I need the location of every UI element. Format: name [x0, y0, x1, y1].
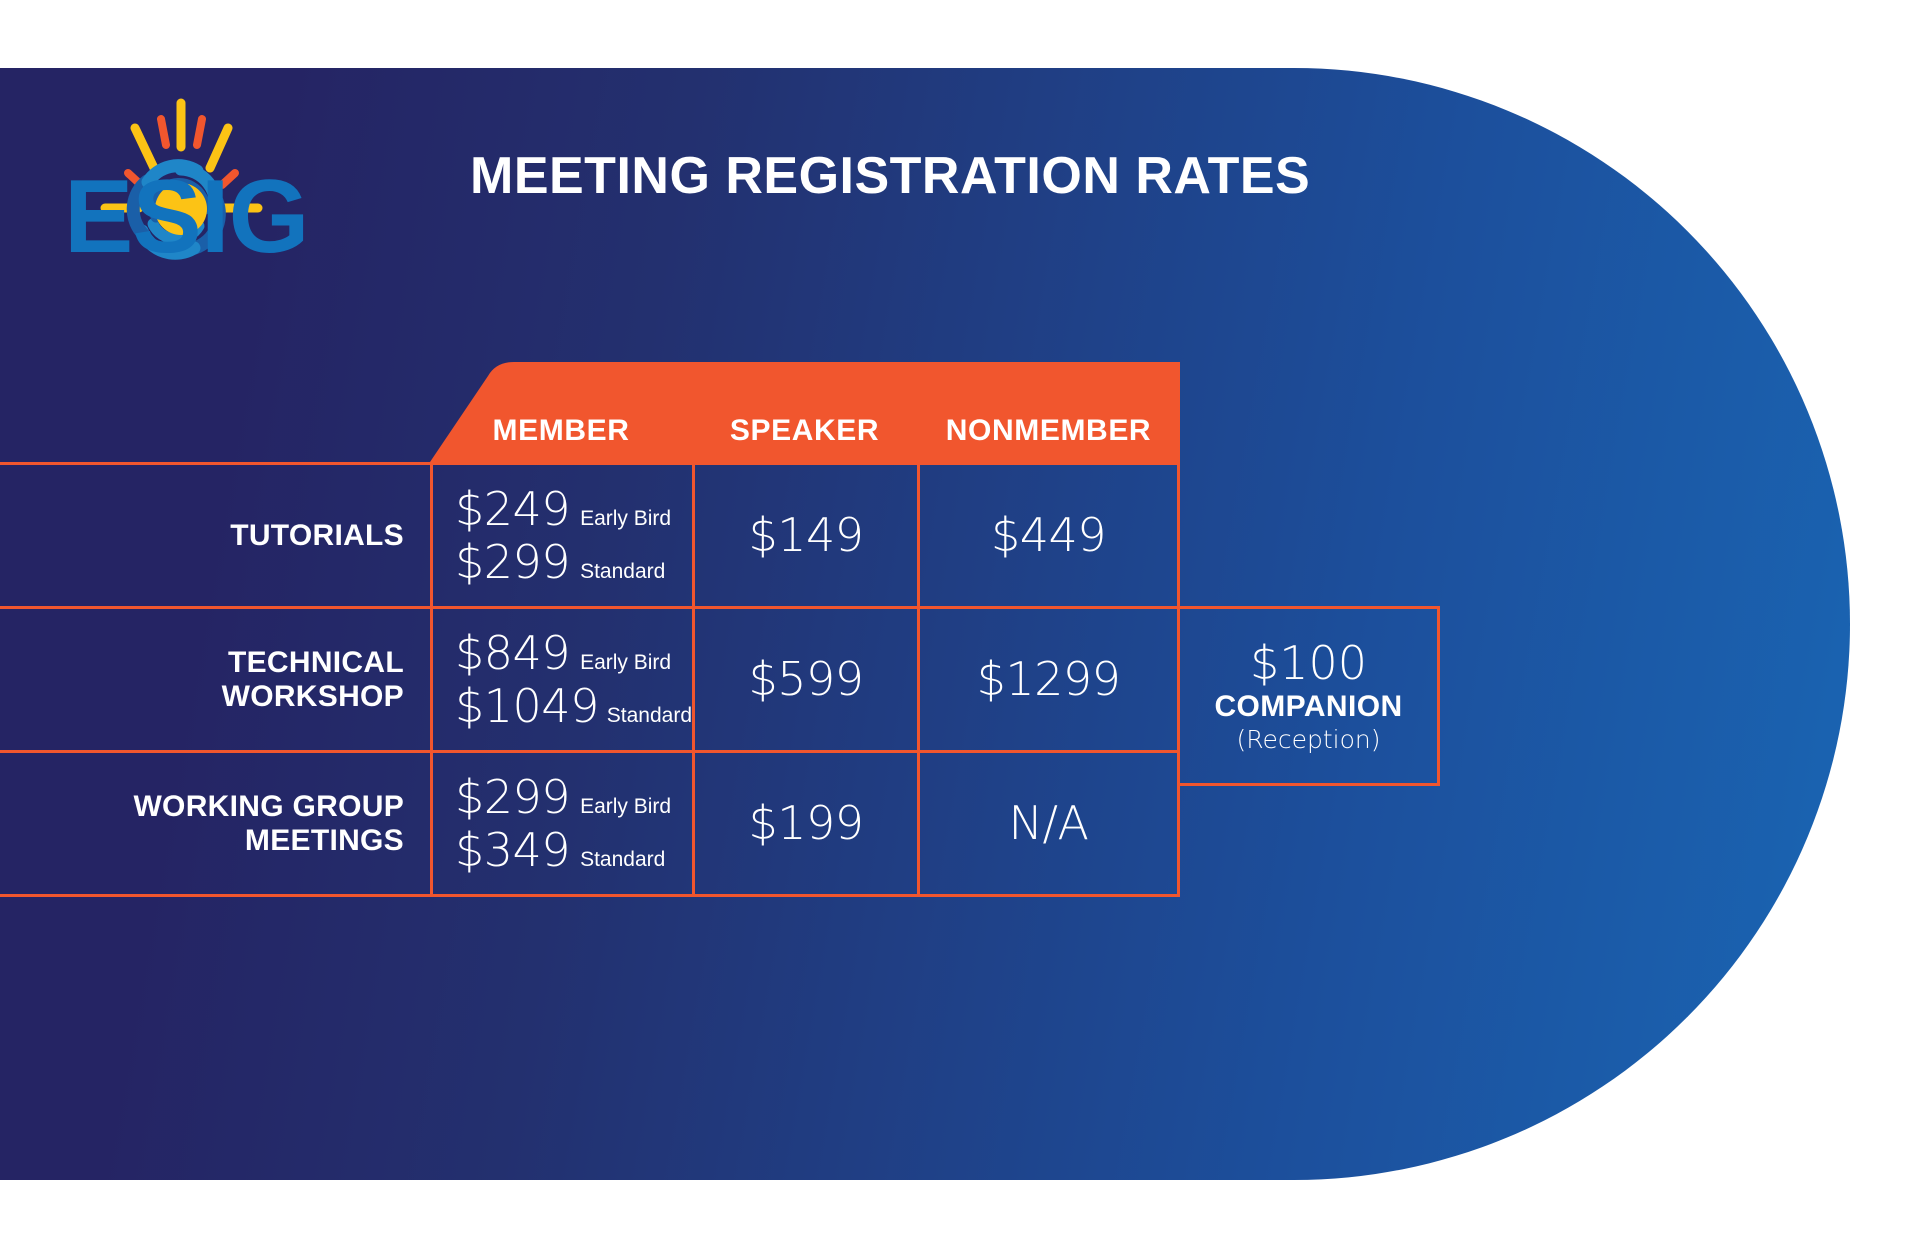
- table-row: TECHNICAL WORKSHOP $849 Early Bird $1049…: [0, 609, 1180, 753]
- row-label-line1: TECHNICAL: [222, 646, 404, 680]
- price-value: N/A: [1009, 799, 1089, 847]
- registration-rates-graphic: ESIG MEETING REGISTRATION RATES MEMBER S…: [0, 0, 1907, 1249]
- tier-label: Standard: [607, 704, 692, 728]
- row-label-line2: MEETINGS: [133, 824, 404, 858]
- row-label-working-group-meetings: WORKING GROUP MEETINGS: [0, 753, 430, 894]
- cell-working-group-speaker: $199: [692, 753, 917, 894]
- tier-label: Standard: [580, 560, 665, 584]
- table-header-bar: MEMBER SPEAKER NONMEMBER: [430, 362, 1180, 462]
- row-label-technical-workshop: TECHNICAL WORKSHOP: [0, 609, 430, 750]
- cell-working-group-nonmember: N/A: [917, 753, 1180, 894]
- column-header-nonmember: NONMEMBER: [917, 414, 1180, 462]
- row-label-line1: WORKING GROUP: [133, 790, 404, 824]
- companion-subtitle: (Reception): [1236, 725, 1380, 754]
- table-row: TUTORIALS $249 Early Bird $299 Standard …: [0, 465, 1180, 609]
- cell-technical-workshop-member: $849 Early Bird $1049 Standard: [430, 609, 692, 750]
- tier-label: Early Bird: [580, 651, 671, 675]
- rates-table: TUTORIALS $249 Early Bird $299 Standard …: [0, 462, 1180, 894]
- companion-title: COMPANION: [1214, 690, 1402, 724]
- price-value: $249: [455, 485, 570, 533]
- cell-technical-workshop-speaker: $599: [692, 609, 917, 750]
- row-label-line2: WORKSHOP: [222, 680, 404, 714]
- price-value: $149: [748, 511, 863, 559]
- price-value: $299: [455, 538, 570, 586]
- esig-wordmark: ESIG: [64, 165, 309, 269]
- companion-price: $100: [1250, 638, 1367, 689]
- cell-tutorials-speaker: $149: [692, 465, 917, 606]
- cell-tutorials-nonmember: $449: [917, 465, 1180, 606]
- row-label-tutorials: TUTORIALS: [0, 465, 430, 606]
- price-value: $349: [455, 826, 570, 874]
- price-value: $299: [455, 773, 570, 821]
- table-row: WORKING GROUP MEETINGS $299 Early Bird $…: [0, 753, 1180, 897]
- page-title: MEETING REGISTRATION RATES: [470, 148, 1300, 205]
- price-value: $199: [748, 799, 863, 847]
- cell-technical-workshop-nonmember: $1299: [917, 609, 1180, 750]
- cell-tutorials-member: $249 Early Bird $299 Standard: [430, 465, 692, 606]
- tier-label: Early Bird: [580, 507, 671, 531]
- price-value: $449: [991, 511, 1106, 559]
- tier-label: Standard: [580, 848, 665, 872]
- cell-working-group-member: $299 Early Bird $349 Standard: [430, 753, 692, 894]
- price-value: $1049: [455, 682, 597, 730]
- price-value: $599: [748, 655, 863, 703]
- price-value: $1299: [977, 655, 1121, 703]
- price-value: $849: [455, 629, 570, 677]
- column-header-member: MEMBER: [430, 414, 692, 462]
- column-header-speaker: SPEAKER: [692, 414, 917, 462]
- companion-rate-box: $100 COMPANION (Reception): [1180, 606, 1440, 786]
- tier-label: Early Bird: [580, 795, 671, 819]
